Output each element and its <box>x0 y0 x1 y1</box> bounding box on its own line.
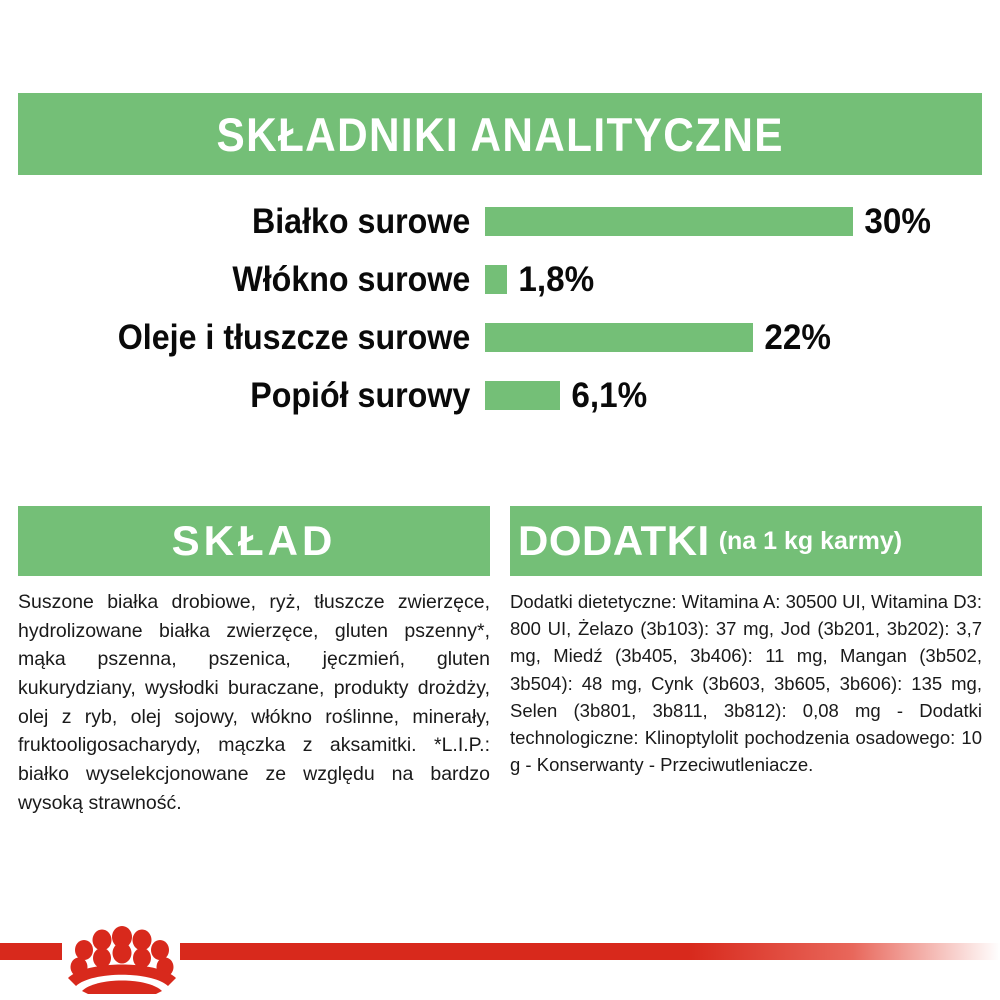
nutrient-bar-crude-ash <box>485 381 560 410</box>
nutrient-row: Popiół surowy 6,1% <box>18 366 982 424</box>
nutrient-row: Oleje i tłuszcze surowe 22% <box>18 308 982 366</box>
nutrient-row: Włókno surowe 1,8% <box>18 250 982 308</box>
bar-wrap: 22% <box>485 320 982 355</box>
nutrient-label-crude-ash: Popiół surowy <box>55 378 485 413</box>
nutrient-bar-crude-protein <box>485 207 853 236</box>
composition-title: SKŁAD <box>172 520 337 562</box>
analytical-constituents-title: SKŁADNIKI ANALITYCZNE <box>216 111 783 158</box>
composition-header-band: SKŁAD <box>18 506 490 576</box>
additives-column: DODATKI (na 1 kg karmy) Dodatki dietetyc… <box>510 506 982 817</box>
nutrient-value-crude-oils-fats: 22% <box>753 320 831 355</box>
nutrient-label-crude-fibre: Włókno surowe <box>55 262 485 297</box>
analytical-constituents-header-band: SKŁADNIKI ANALITYCZNE <box>18 93 982 175</box>
additives-subtitle: (na 1 kg karmy) <box>710 529 902 554</box>
footer-bar-left-segment <box>0 943 62 960</box>
bar-wrap: 1,8% <box>485 262 982 297</box>
nutrient-value-crude-ash: 6,1% <box>560 378 647 413</box>
additives-title: DODATKI <box>518 520 710 562</box>
nutrient-row: Białko surowe 30% <box>18 192 982 250</box>
nutrient-value-crude-protein: 30% <box>853 204 931 239</box>
nutrient-label-crude-protein: Białko surowe <box>55 204 485 239</box>
composition-body-text: Suszone białka drobiowe, ryż, tłuszcze z… <box>18 588 490 817</box>
bar-wrap: 6,1% <box>485 378 982 413</box>
footer-bar-right-segment <box>180 943 1000 960</box>
bar-wrap: 30% <box>485 204 982 239</box>
composition-column: SKŁAD Suszone białka drobiowe, ryż, tłus… <box>18 506 490 817</box>
additives-body-text: Dodatki dietetyczne: Witamina A: 30500 U… <box>510 588 982 778</box>
nutrient-bar-chart: Białko surowe 30% Włókno surowe 1,8% Ole… <box>18 192 982 424</box>
nutrient-bar-crude-oils-fats <box>485 323 753 352</box>
info-columns: SKŁAD Suszone białka drobiowe, ryż, tłus… <box>18 506 982 817</box>
nutrient-label-crude-oils-fats: Oleje i tłuszcze surowe <box>55 320 485 355</box>
royal-canin-crown-icon <box>62 920 182 994</box>
footer-brand-bar <box>0 926 1000 1000</box>
additives-header-band: DODATKI (na 1 kg karmy) <box>510 506 982 576</box>
nutrient-bar-crude-fibre <box>485 265 507 294</box>
nutrient-value-crude-fibre: 1,8% <box>507 262 594 297</box>
